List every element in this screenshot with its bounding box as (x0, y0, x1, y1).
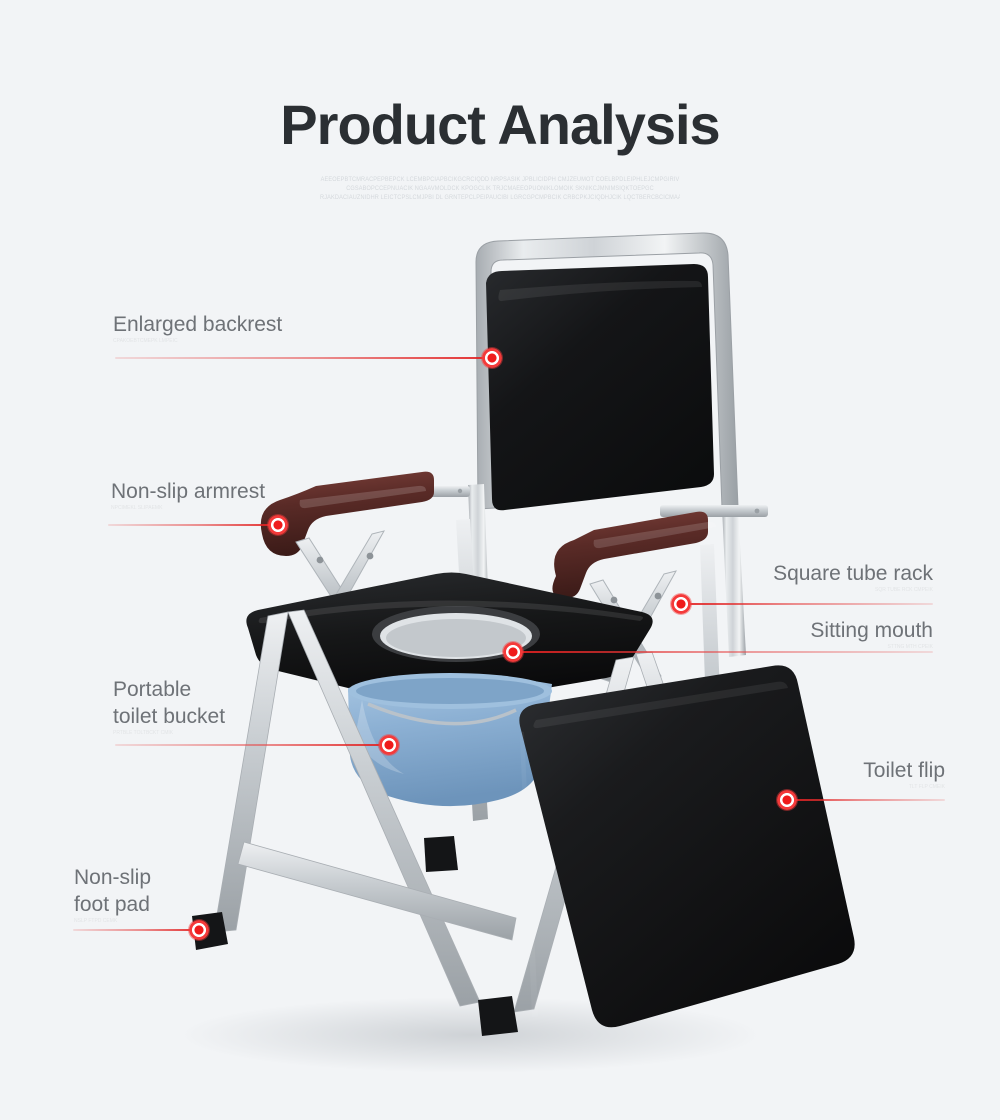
marker-dot-non-slip-armrest[interactable] (267, 514, 289, 536)
leader-line-non-slip-armrest (108, 524, 278, 526)
marker-dot-enlarged-backrest[interactable] (481, 347, 503, 369)
callout-label-non-slip-armrest: Non-slip armrest (111, 478, 265, 505)
leader-line-enlarged-backrest (115, 357, 492, 359)
foot-pad-front-right (424, 836, 458, 872)
leader-line-non-slip-foot-pad (73, 929, 199, 931)
callout-non-slip-foot-pad: Non-slip foot padNSLP FTPD CEMK (74, 864, 151, 925)
callout-label-square-tube-rack: Square tube rack (773, 560, 933, 587)
callout-microtext-square-tube-rack: SQR TUBE RCK CMPEIK (773, 587, 933, 594)
callout-microtext-portable-toilet-bucket: PRTBLE TOLTBCKT CMIK (113, 730, 225, 737)
callout-label-toilet-flip: Toilet flip (863, 757, 945, 784)
marker-dot-non-slip-foot-pad[interactable] (188, 919, 210, 941)
marker-dot-portable-toilet-bucket[interactable] (378, 734, 400, 756)
toilet-flip-lid (519, 665, 854, 1027)
callout-label-enlarged-backrest: Enlarged backrest (113, 311, 282, 338)
callout-label-portable-toilet-bucket: Portable toilet bucket (113, 676, 225, 730)
callout-label-non-slip-foot-pad: Non-slip foot pad (74, 864, 151, 918)
backrest-cushion (486, 264, 714, 510)
subtitle-line-3: RJAKDACIAUZNIDHR LEICTCPSLCMJPBI DL GRNT… (320, 193, 680, 203)
callout-sitting-mouth: Sitting mouthSTTNG MTH CPEIK (810, 617, 933, 651)
callout-microtext-non-slip-armrest: NPCIMEKL SLIPAEMK (111, 505, 265, 512)
callout-square-tube-rack: Square tube rackSQR TUBE RCK CMPEIK (773, 560, 933, 594)
armrest-left (261, 472, 434, 556)
subtitle-block: AEEOEPBTCMRACPEPBEPCK LCEMBPCIAPBCIKGCRC… (320, 176, 680, 203)
infographic-canvas: Product Analysis AEEOEPBTCMRACPEPBEPCK L… (0, 0, 1000, 1120)
callout-microtext-sitting-mouth: STTNG MTH CPEIK (810, 644, 933, 651)
callout-enlarged-backrest: Enlarged backrestCPAKOEBTCMEPK LMPEIC (113, 311, 282, 345)
marker-dot-sitting-mouth[interactable] (502, 641, 524, 663)
marker-dot-toilet-flip[interactable] (776, 789, 798, 811)
armrest-right (552, 512, 708, 598)
leader-line-sitting-mouth (513, 651, 933, 653)
callout-non-slip-armrest: Non-slip armrestNPCIMEKL SLIPAEMK (111, 478, 265, 512)
callout-label-sitting-mouth: Sitting mouth (810, 617, 933, 644)
callout-portable-toilet-bucket: Portable toilet bucketPRTBLE TOLTBCKT CM… (113, 676, 225, 737)
callout-toilet-flip: Toilet flipTLT FLP CMEIK (863, 757, 945, 791)
cross-brace (238, 842, 516, 940)
callout-microtext-enlarged-backrest: CPAKOEBTCMEPK LMPEIC (113, 338, 282, 345)
foot-pad-rear-right (478, 996, 518, 1036)
callout-microtext-toilet-flip: TLT FLP CMEIK (863, 784, 945, 791)
leader-line-portable-toilet-bucket (115, 744, 389, 746)
leader-line-toilet-flip (787, 799, 945, 801)
callout-microtext-non-slip-foot-pad: NSLP FTPD CEMK (74, 918, 151, 925)
leader-line-square-tube-rack (681, 603, 933, 605)
marker-dot-square-tube-rack[interactable] (670, 593, 692, 615)
page-title: Product Analysis (0, 92, 1000, 157)
